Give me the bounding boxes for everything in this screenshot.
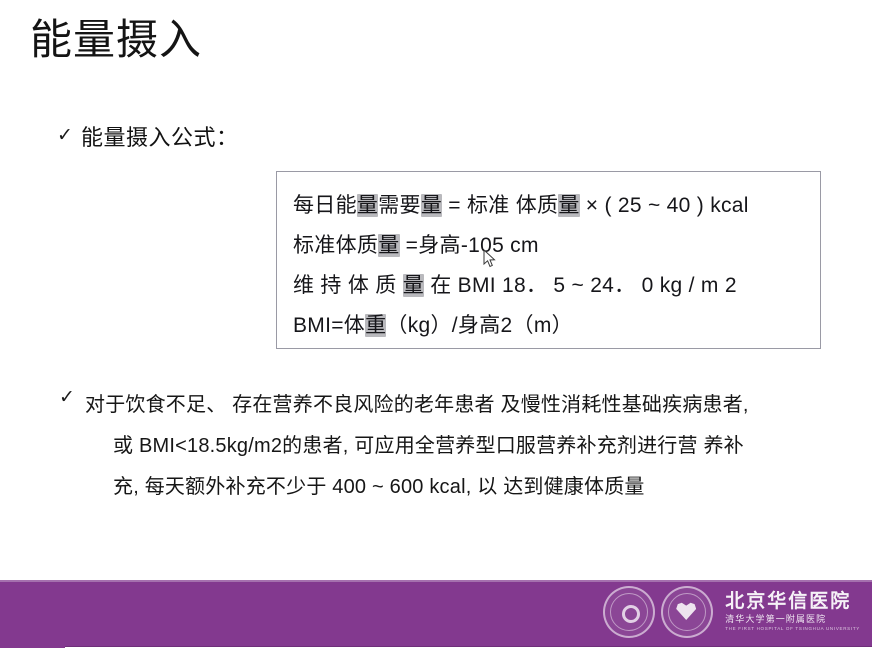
hospital-name: 北京华信医院 bbox=[725, 592, 860, 611]
university-seal-icon bbox=[603, 586, 655, 638]
formula-seg: 每日能 bbox=[293, 194, 357, 217]
formula-line-4: BMI=体重（kg）/身高2（m） bbox=[293, 306, 820, 346]
formula-seg-highlighted: 重 bbox=[365, 314, 386, 337]
formula-seg-highlighted: 量 bbox=[357, 194, 378, 217]
bullet-item-supplement-guidance: ✓ 对于饮食不足、 存在营养不良风险的老年患者 及慢性消耗性基础疾病患者, 或 … bbox=[57, 385, 857, 508]
formula-seg-highlighted: 量 bbox=[403, 274, 424, 297]
formula-seg: × ( 25 ~ 40 ) kcal bbox=[580, 194, 749, 217]
formula-seg-highlighted: 量 bbox=[378, 234, 399, 257]
formula-line-1: 每日能量需要量 = 标准 体质量 × ( 25 ~ 40 ) kcal bbox=[293, 186, 820, 226]
hospital-wordmark: 北京华信医院 清华大学第一附属医院 The First Hospital of … bbox=[725, 592, 860, 632]
formula-seg: 维 持 体 质 bbox=[293, 274, 403, 297]
formula-seg: 需要 bbox=[378, 194, 421, 217]
check-icon: ✓ bbox=[57, 124, 81, 149]
formula-seg: 在 BMI 18． 5 ~ 24． 0 kg / m 2 bbox=[424, 274, 737, 297]
paragraph-line-1: 对于饮食不足、 存在营养不良风险的老年患者 及慢性消耗性基础疾病患者, bbox=[85, 385, 857, 426]
formula-seg: =身高-105 cm bbox=[400, 234, 539, 257]
formula-seg: = 标准 体质 bbox=[442, 194, 558, 217]
formula-seg-highlighted: 量 bbox=[558, 194, 579, 217]
presentation-slide: 能量摄入 ✓ 能量摄入公式： 每日能量需要量 = 标准 体质量 × ( 25 ~… bbox=[0, 0, 872, 652]
footer-bottom-strip bbox=[65, 646, 872, 652]
paragraph-line-2: 或 BMI<18.5kg/m2的患者, 可应用全营养型口服营养补充剂进行营 养补 bbox=[85, 426, 857, 467]
paragraph-line-3: 充, 每天额外补充不少于 400 ~ 600 kcal, 以 达到健康体质量 bbox=[85, 467, 857, 508]
formula-seg: 标准体质 bbox=[293, 234, 378, 257]
formula-line-2: 标准体质量 =身高-105 cm bbox=[293, 226, 820, 266]
heart-icon bbox=[676, 602, 696, 620]
page-title: 能量摄入 bbox=[30, 14, 202, 67]
check-icon: ✓ bbox=[59, 386, 83, 411]
formula-seg: BMI=体 bbox=[293, 314, 365, 337]
heart-hands-seal-icon bbox=[661, 586, 713, 638]
hospital-subtitle: 清华大学第一附属医院 bbox=[725, 615, 860, 624]
formula-seg: （kg）/身高2（m） bbox=[386, 314, 573, 337]
footer-branding: 北京华信医院 清华大学第一附属医院 The First Hospital of … bbox=[603, 586, 860, 638]
formula-line-3: 维 持 体 质 量 在 BMI 18． 5 ~ 24． 0 kg / m 2 bbox=[293, 266, 820, 306]
hospital-name-english: The First Hospital of Tsinghua Universit… bbox=[725, 627, 860, 632]
formula-seg-highlighted: 量 bbox=[421, 194, 442, 217]
formula-box: 每日能量需要量 = 标准 体质量 × ( 25 ~ 40 ) kcal 标准体质… bbox=[276, 171, 821, 349]
bullet-one-label: 能量摄入公式： bbox=[81, 124, 239, 153]
bullet-item-formula-heading: ✓ 能量摄入公式： bbox=[57, 124, 239, 153]
